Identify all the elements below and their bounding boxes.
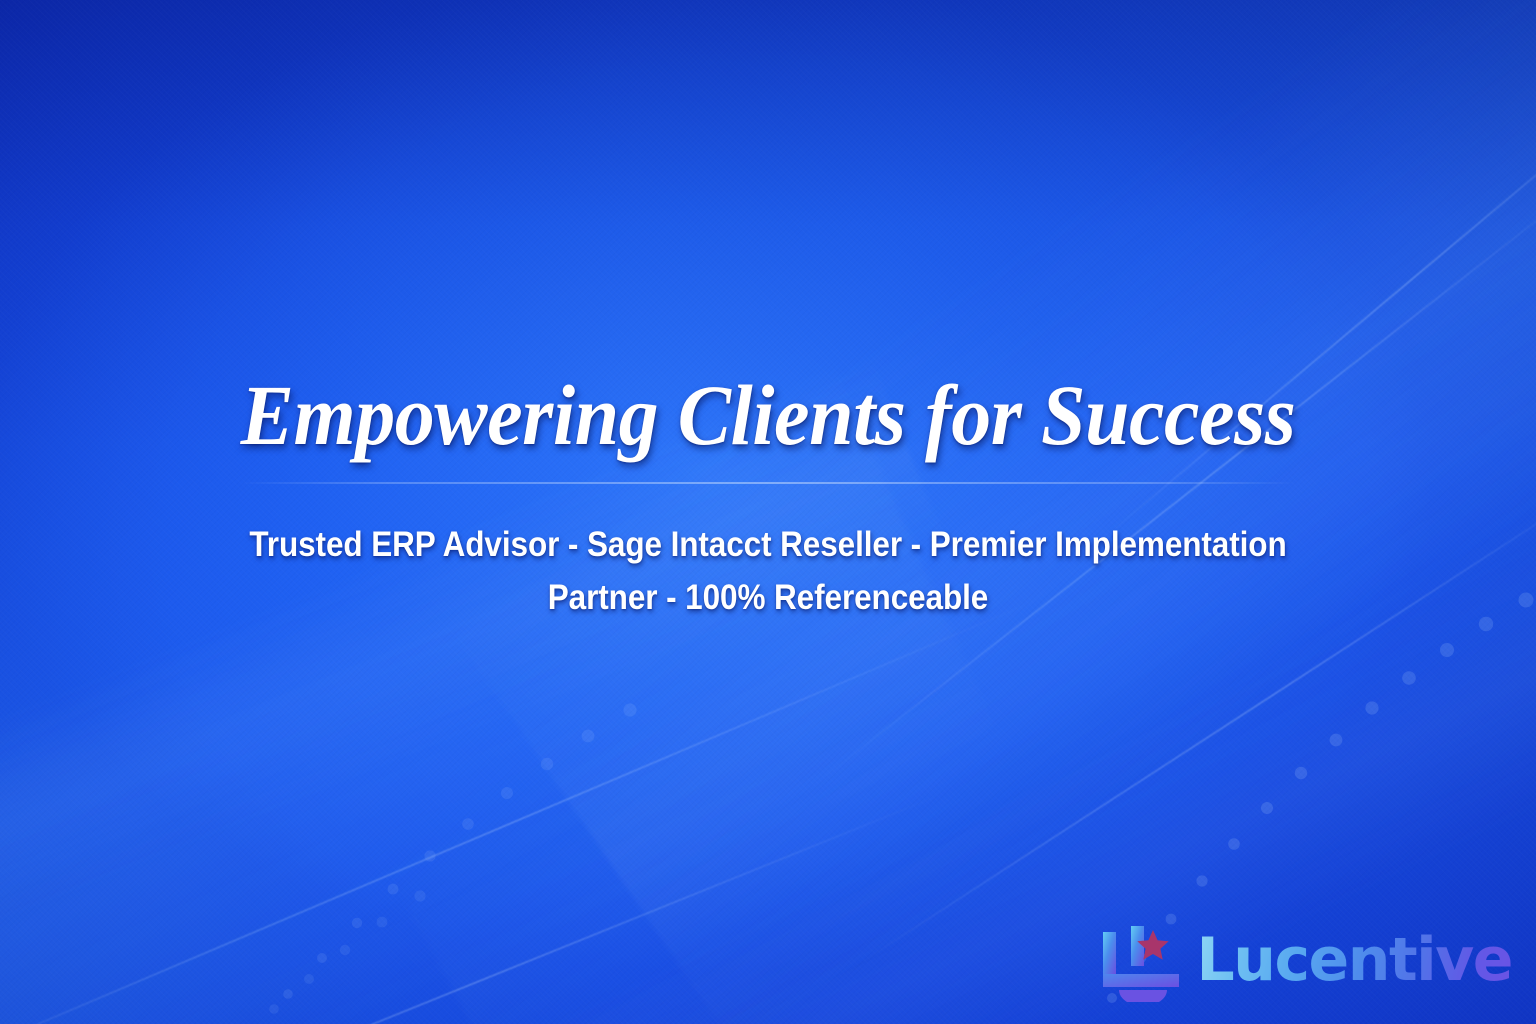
slide-subtitle: Trusted ERP Advisor - Sage Intacct Resel…: [210, 518, 1326, 624]
lucentive-logomark-icon: [1097, 924, 1189, 1002]
brand-wordmark: Lucentive: [1197, 930, 1512, 996]
presentation-slide: Empowering Clients for Success Trusted E…: [0, 0, 1536, 1024]
title-divider: [240, 482, 1296, 484]
brand-logo[interactable]: Lucentive: [1097, 924, 1512, 1002]
slide-content: Empowering Clients for Success Trusted E…: [0, 372, 1536, 624]
slide-title: Empowering Clients for Success: [54, 372, 1482, 460]
